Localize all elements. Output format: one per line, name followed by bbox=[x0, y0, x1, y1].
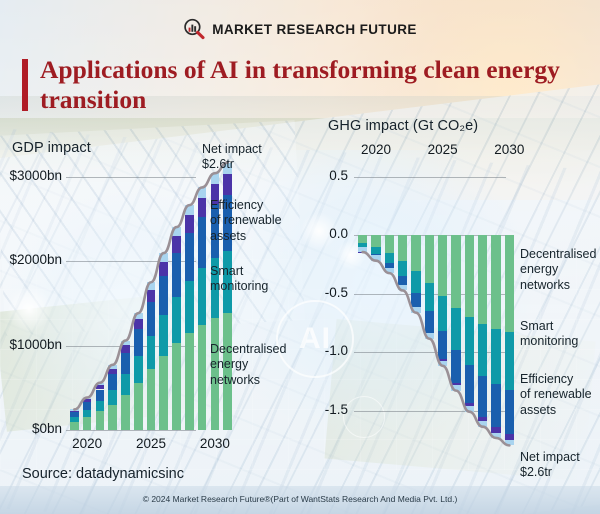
brand-name: MARKET RESEARCH FUTURE bbox=[212, 22, 417, 37]
source-note: Source: datadynamicsinc bbox=[22, 466, 184, 482]
callout-efficiency: Efficiency of renewable assets bbox=[520, 372, 592, 418]
title-accent-bar bbox=[22, 59, 28, 111]
callout-net-impact: Net impact $2.6tr bbox=[520, 450, 580, 481]
callout-decentralised: Decentralised energy networks bbox=[520, 247, 596, 293]
copyright-note: © 2024 Market Research Future®(Part of W… bbox=[0, 494, 600, 504]
callout-efficiency: Efficiency of renewable assets bbox=[210, 198, 282, 244]
callout-smart: Smart monitoring bbox=[520, 319, 578, 350]
gdp-impact-chart: GDP impact$0bn$1000bn$2000bn$3000bn20202… bbox=[0, 130, 320, 460]
ghg-impact-chart: GHG impact (Gt CO₂e)0.50.0-0.5-1.0-1.520… bbox=[320, 110, 600, 460]
callout-decentralised: Decentralised energy networks bbox=[210, 342, 286, 388]
brand-logo: MARKET RESEARCH FUTURE bbox=[0, 18, 600, 40]
page-title: Applications of AI in transforming clean… bbox=[40, 55, 580, 115]
callout-smart: Smart monitoring bbox=[210, 264, 268, 295]
infographic-canvas: AI MARKET RESEARCH FUTURE Applications o… bbox=[0, 0, 600, 514]
callout-net-impact: Net impact $2.6tr bbox=[202, 142, 262, 173]
net-impact-line bbox=[0, 130, 320, 460]
magnifier-bar-chart-icon bbox=[183, 18, 205, 40]
